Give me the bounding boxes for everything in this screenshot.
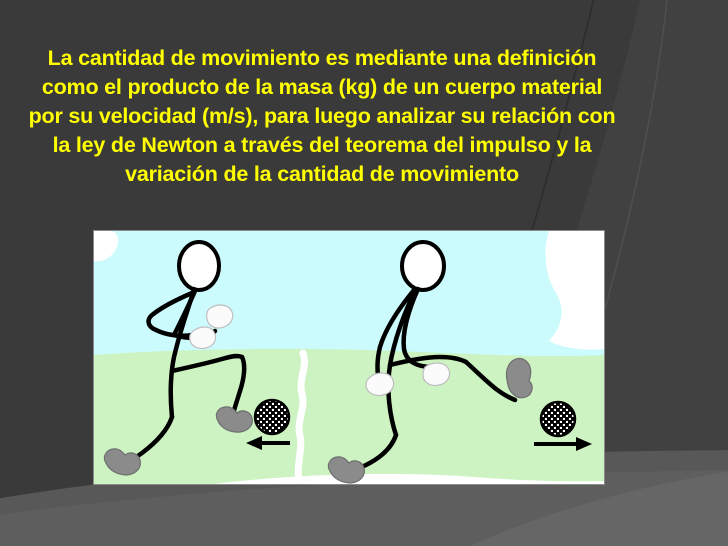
illustration-canvas [94, 231, 604, 484]
illustration-image [93, 230, 605, 485]
right-figure-hand-front [423, 363, 450, 385]
right-figure-hand-back [366, 373, 394, 395]
presentation-slide: La cantidad de movimiento es mediante un… [0, 0, 728, 546]
slide-title-text: La cantidad de movimiento es mediante un… [22, 44, 622, 189]
soccer-ball-left [255, 400, 289, 434]
soccer-ball-right [541, 402, 575, 436]
left-figure-head [179, 242, 219, 290]
right-figure-shoe-kicking [507, 359, 533, 398]
left-figure-hand-upper [207, 305, 233, 328]
right-figure-head [402, 242, 444, 290]
left-figure-hand-lower [190, 327, 216, 349]
